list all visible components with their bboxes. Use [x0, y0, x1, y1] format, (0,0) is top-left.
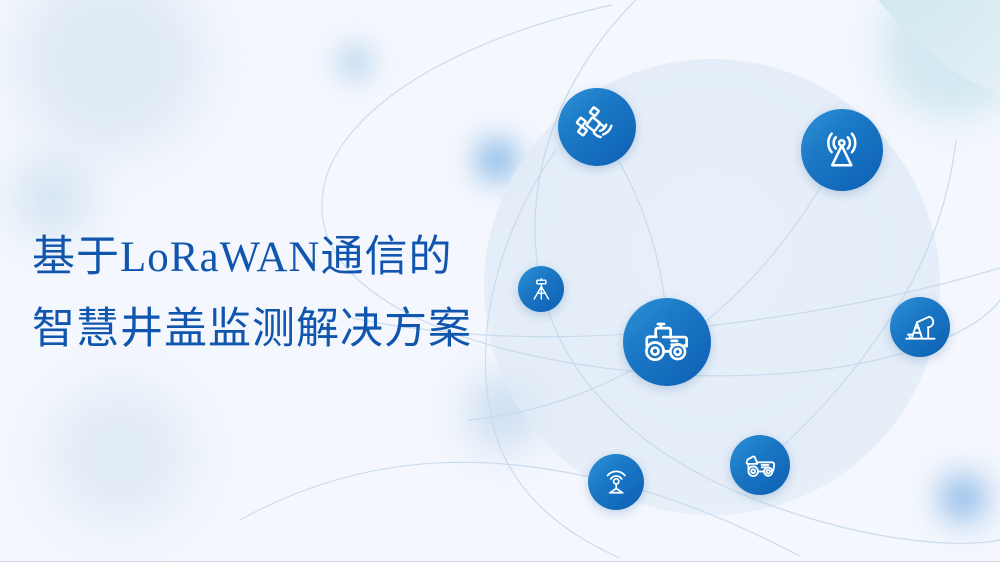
- icon-node-tractor[interactable]: [623, 298, 711, 386]
- gps-beacon-icon: [588, 454, 644, 510]
- page-title: 基于LoRaWAN通信的 智慧井盖监测解决方案: [32, 222, 572, 366]
- title-line-1: 基于LoRaWAN通信的: [32, 222, 572, 294]
- slide-canvas: 基于LoRaWAN通信的 智慧井盖监测解决方案: [0, 0, 1000, 562]
- oil-pumpjack-icon: [890, 297, 950, 357]
- corner-shape-top-right: [878, 0, 1000, 92]
- icon-node-harvester[interactable]: [730, 435, 790, 495]
- icon-node-radio-tower[interactable]: [801, 109, 883, 191]
- harvester-icon: [730, 435, 790, 495]
- icon-node-oil-pump[interactable]: [890, 297, 950, 357]
- icon-node-satellite[interactable]: [558, 88, 636, 166]
- tractor-icon: [623, 298, 711, 386]
- radio-tower-icon: [801, 109, 883, 191]
- title-line-2: 智慧井盖监测解决方案: [32, 294, 572, 366]
- icon-node-gps-beacon[interactable]: [588, 454, 644, 510]
- satellite-icon: [558, 88, 636, 166]
